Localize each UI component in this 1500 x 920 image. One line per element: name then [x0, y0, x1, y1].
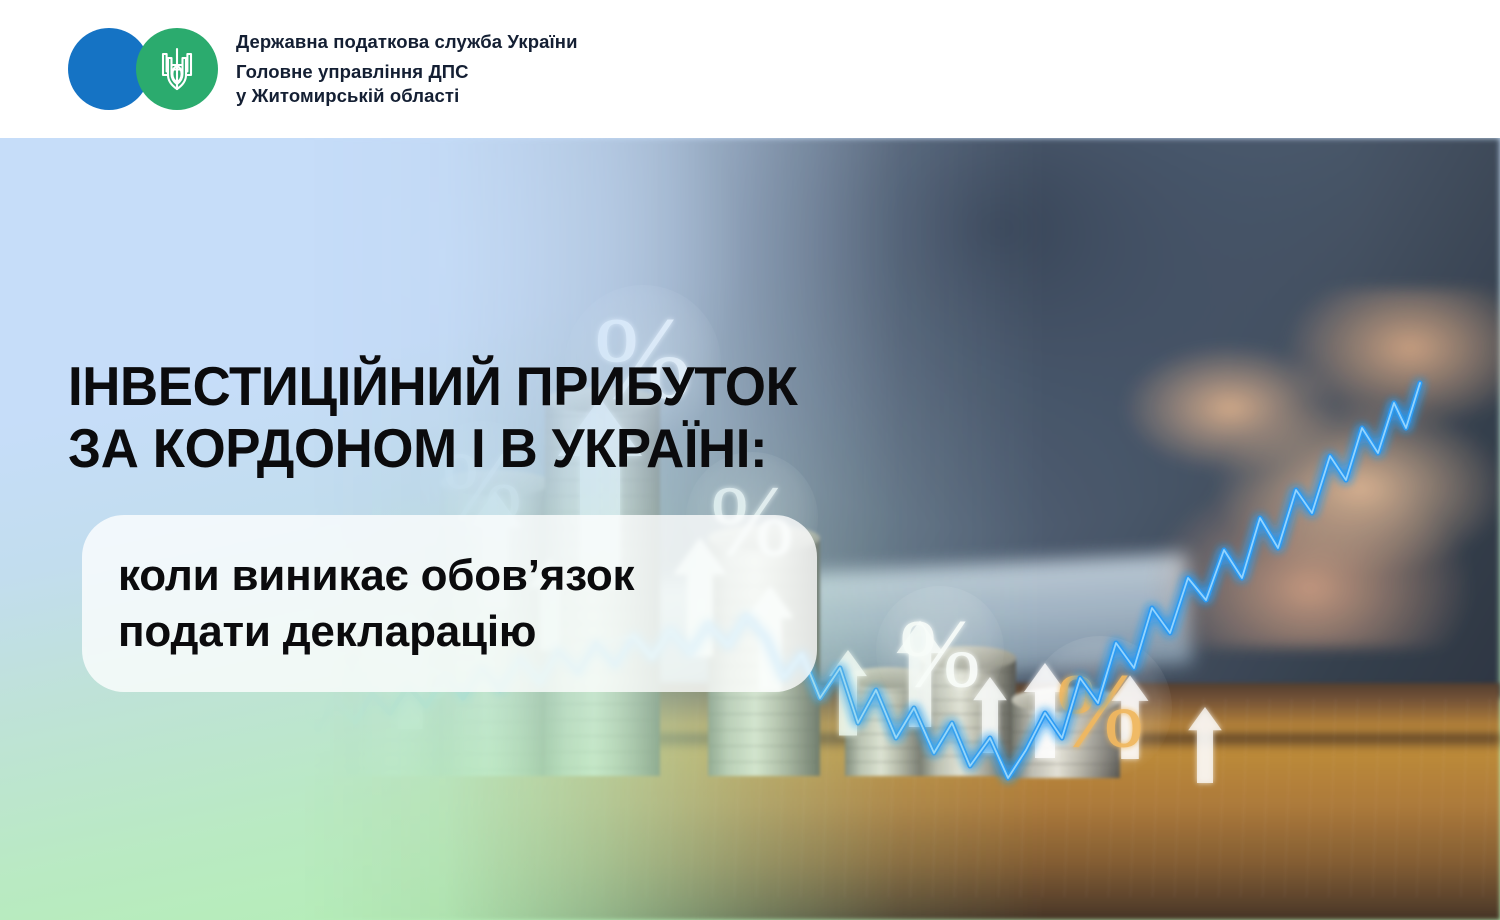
org-name-block: Державна податкова служба України Головн… — [236, 30, 578, 108]
org-name-line-1: Державна податкова служба України — [236, 30, 578, 54]
poster: Державна податкова служба України Головн… — [0, 0, 1500, 920]
subtitle-card: коли виникає обов’язок подати декларацію — [82, 515, 817, 692]
org-name-line-2: Головне управління ДПС — [236, 60, 578, 84]
subtitle-text: коли виникає обов’язок подати декларацію — [118, 548, 634, 659]
headline: ІНВЕСТИЦІЙНИЙ ПРИБУТОК ЗА КОРДОНОМ І В У… — [68, 356, 797, 479]
org-name-line-3: у Житомирській області — [236, 84, 578, 108]
tryzub-icon — [136, 28, 218, 110]
dps-logo — [68, 28, 220, 110]
banner-stage: % % % % % — [0, 138, 1500, 920]
header-bar: Державна податкова служба України Головн… — [0, 0, 1500, 138]
